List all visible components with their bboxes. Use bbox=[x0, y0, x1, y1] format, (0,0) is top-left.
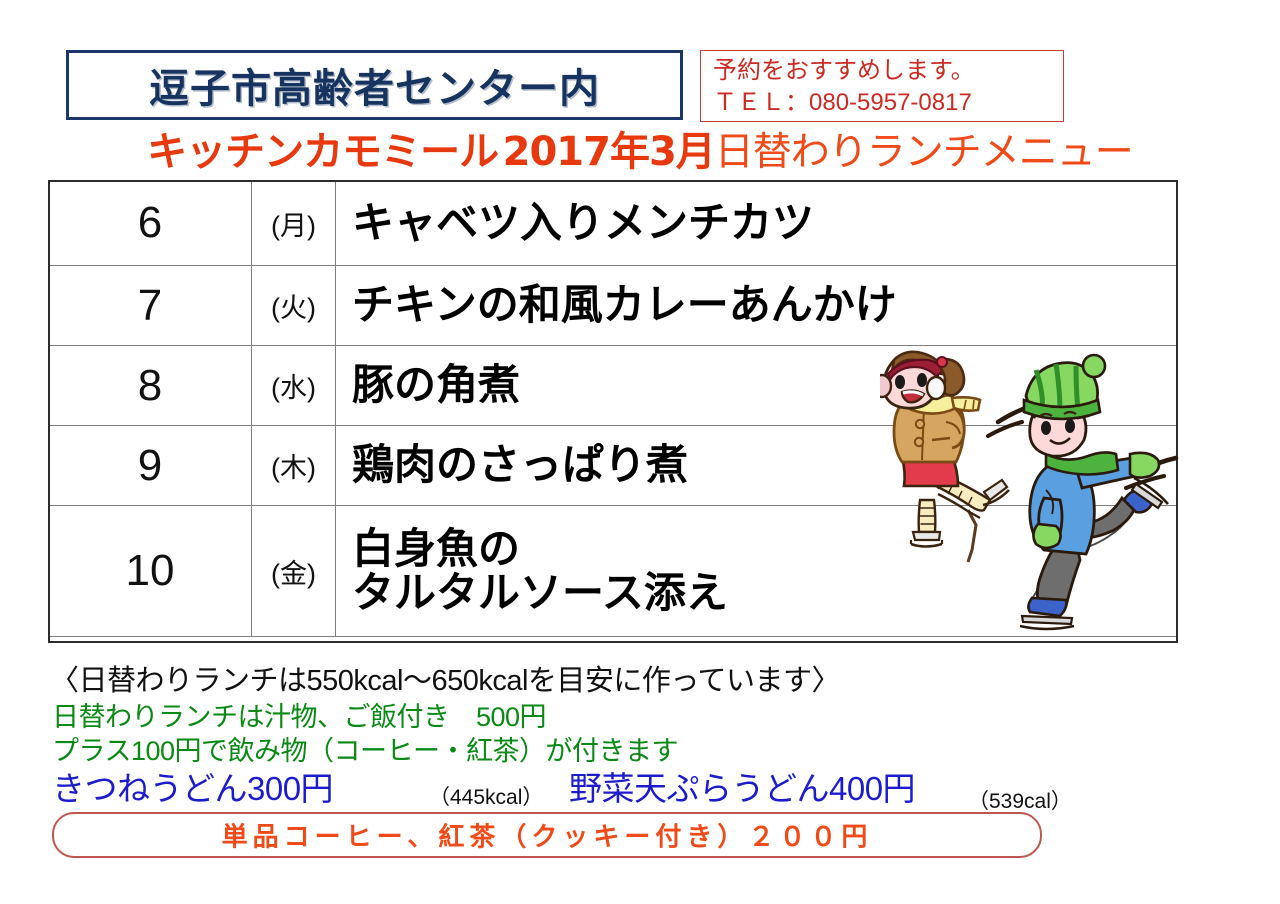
udon-kitsune-calories: （445kcal） bbox=[429, 781, 543, 811]
coffee-tea-price-box: 単品コーヒー、紅茶（クッキー付き）２００円 bbox=[52, 812, 1042, 858]
menu-date: 6 bbox=[49, 181, 252, 266]
menu-dish: キャベツ入りメンチカツ bbox=[336, 181, 1178, 266]
menu-month: 2017年3月 bbox=[503, 129, 715, 175]
table-row: 10 (金) 白身魚の タルタルソース添え bbox=[49, 506, 1178, 637]
menu-dish: 豚の角煮 bbox=[336, 346, 1178, 426]
menu-date: 8 bbox=[49, 346, 252, 426]
table-row: 8 (水) 豚の角煮 bbox=[49, 346, 1178, 426]
menu-dish: チキンの和風カレーあんかけ bbox=[336, 266, 1178, 346]
menu-day: (金) bbox=[252, 506, 336, 637]
udon-yasai-calories: （539cal） bbox=[968, 785, 1072, 815]
dish-line-2: タルタルソース添え bbox=[352, 571, 1177, 615]
menu-dish: 鶏肉のさっぱり煮 bbox=[336, 426, 1178, 506]
menu-day: (月) bbox=[252, 181, 336, 266]
page-title: キッチンカモミール 2017年3月日替わりランチメニュー bbox=[0, 128, 1280, 176]
coffee-tea-price-text: 単品コーヒー、紅茶（クッキー付き）２００円 bbox=[54, 817, 1040, 854]
menu-dish: 白身魚の タルタルソース添え bbox=[336, 506, 1178, 637]
reservation-info-box: 予約をおすすめします。 ＴＥＬ：080-5957-0817 bbox=[700, 50, 1064, 122]
note-calorie-range: 〈日替わりランチは550kcal〜650kcalを目安に作っています〉 bbox=[50, 657, 840, 699]
daily-lunch-menu-table: 6 (月) キャベツ入りメンチカツ 7 (火) チキンの和風カレーあんかけ 8 … bbox=[48, 180, 1178, 637]
menu-subtitle: 日替わりランチメニュー bbox=[715, 131, 1133, 174]
table-row: 6 (月) キャベツ入りメンチカツ bbox=[49, 181, 1178, 266]
reservation-telephone: ＴＥＬ：080-5957-0817 bbox=[713, 87, 1063, 119]
reservation-note: 予約をおすすめします。 bbox=[713, 55, 1063, 87]
table-row: 9 (木) 鶏肉のさっぱり煮 bbox=[49, 426, 1178, 506]
udon-price-row: きつねうどん300円 （445kcal） 野菜天ぷらうどん400円 （539ca… bbox=[52, 762, 1082, 802]
menu-day: (火) bbox=[252, 266, 336, 346]
menu-date: 9 bbox=[49, 426, 252, 506]
venue-title-box: 逗子市高齢者センター内 bbox=[66, 50, 683, 120]
shop-name: キッチンカモミール bbox=[147, 129, 498, 175]
menu-date: 7 bbox=[49, 266, 252, 346]
menu-day: (水) bbox=[252, 346, 336, 426]
dish-line-1: 豚の角煮 bbox=[352, 361, 520, 408]
dish-line-1: 鶏肉のさっぱり煮 bbox=[352, 441, 688, 488]
table-row: 7 (火) チキンの和風カレーあんかけ bbox=[49, 266, 1178, 346]
menu-date: 10 bbox=[49, 506, 252, 637]
dish-line-1: キャベツ入りメンチカツ bbox=[352, 199, 814, 246]
dish-line-1: チキンの和風カレーあんかけ bbox=[352, 281, 897, 328]
dish-line-1: 白身魚の bbox=[352, 525, 520, 572]
udon-yasai-price: 野菜天ぷらうどん400円 bbox=[569, 762, 915, 810]
udon-kitsune-price: きつねうどん300円 bbox=[52, 762, 333, 810]
venue-title: 逗子市高齢者センター内 bbox=[69, 56, 680, 114]
menu-day: (木) bbox=[252, 426, 336, 506]
